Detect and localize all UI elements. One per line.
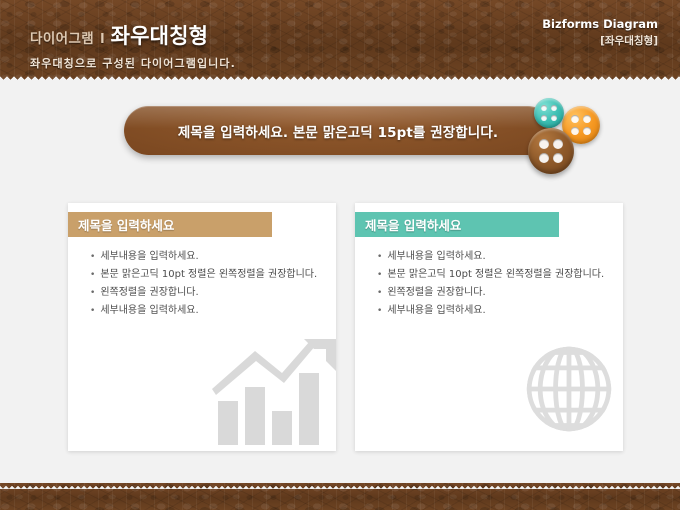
button-hole (551, 115, 557, 121)
button-hole (571, 115, 579, 123)
list-item: • 왼쪽정렬을 권장합니다. (377, 285, 609, 301)
list-item-label: 세부내용을 입력하세요. (100, 303, 198, 319)
button-hole (583, 127, 591, 135)
list-item: • 세부내용을 입력하세요. (90, 303, 322, 319)
content-card-right[interactable]: 제목을 입력하세요 • 세부내용을 입력하세요. • 본문 맑은고딕 10pt … (355, 203, 623, 451)
button-hole (571, 127, 579, 135)
button-hole (553, 153, 563, 163)
title-line: 다이어그램 l 좌우대칭형 (30, 20, 236, 50)
button-brown-icon (528, 128, 574, 174)
bullet-marker-icon: • (377, 285, 382, 301)
bullet-list-right: • 세부내용을 입력하세요. • 본문 맑은고딕 10pt 정렬은 왼쪽정렬을 … (377, 249, 609, 321)
list-item: • 본문 맑은고딕 10pt 정렬은 왼쪽정렬을 권장합니다. (377, 267, 609, 283)
bullet-marker-icon: • (377, 303, 382, 319)
slide-canvas: 다이어그램 l 좌우대칭형 좌우대칭으로 구성된 다이어그램입니다. Bizfo… (0, 0, 680, 510)
card-heading-left: 제목을 입력하세요 (78, 215, 174, 234)
button-hole (541, 115, 547, 121)
title-prefix: 다이어그램 (30, 27, 94, 47)
button-hole (551, 105, 557, 111)
list-item: • 세부내용을 입력하세요. (377, 303, 609, 319)
list-item-label: 왼쪽정렬을 권장합니다. (387, 285, 485, 301)
list-item: • 왼쪽정렬을 권장합니다. (90, 285, 322, 301)
list-item-label: 본문 맑은고딕 10pt 정렬은 왼쪽정렬을 권장합니다. (100, 267, 317, 283)
list-item-label: 세부내용을 입력하세요. (100, 249, 198, 265)
bullet-marker-icon: • (90, 285, 95, 301)
list-item-label: 본문 맑은고딕 10pt 정렬은 왼쪽정렬을 권장합니다. (387, 267, 604, 283)
bullet-marker-icon: • (377, 267, 382, 283)
bullet-list-left: • 세부내용을 입력하세요. • 본문 맑은고딕 10pt 정렬은 왼쪽정렬을 … (90, 249, 322, 321)
header-zigzag-divider (0, 73, 680, 80)
bullet-marker-icon: • (90, 303, 95, 319)
brand-title: Bizforms Diagram (542, 17, 658, 31)
title-banner[interactable]: 제목을 입력하세요. 본문 맑은고딕 15pt를 권장합니다. (124, 106, 552, 155)
list-item-label: 세부내용을 입력하세요. (387, 249, 485, 265)
footer-band (0, 483, 680, 510)
card-heading-right: 제목을 입력하세요 (365, 215, 461, 234)
list-item-label: 세부내용을 입력하세요. (387, 303, 485, 319)
button-hole (583, 115, 591, 123)
list-item: • 세부내용을 입력하세요. (90, 249, 322, 265)
bar-chart-growth-icon (212, 339, 336, 449)
page-title: 다이어그램 l 좌우대칭형 좌우대칭으로 구성된 다이어그램입니다. (30, 20, 236, 71)
bullet-marker-icon: • (377, 249, 382, 265)
brand-block: Bizforms Diagram [좌우대칭형] (542, 17, 658, 48)
button-hole (539, 139, 549, 149)
banner-text: 제목을 입력하세요. 본문 맑은고딕 15pt를 권장합니다. (154, 121, 522, 141)
bullet-marker-icon: • (90, 249, 95, 265)
page-subtitle: 좌우대칭으로 구성된 다이어그램입니다. (30, 55, 236, 71)
button-hole (541, 105, 547, 111)
list-item: • 본문 맑은고딕 10pt 정렬은 왼쪽정렬을 권장합니다. (90, 267, 322, 283)
list-item: • 세부내용을 입력하세요. (377, 249, 609, 265)
card-heading-ribbon-left: 제목을 입력하세요 (68, 212, 272, 237)
content-card-left[interactable]: 제목을 입력하세요 • 세부내용을 입력하세요. • 본문 맑은고딕 10pt … (68, 203, 336, 451)
list-item-label: 왼쪽정렬을 권장합니다. (100, 285, 198, 301)
title-main: 좌우대칭형 (111, 20, 209, 50)
button-hole (553, 139, 563, 149)
brand-subtitle: [좌우대칭형] (542, 33, 658, 48)
card-heading-ribbon-right: 제목을 입력하세요 (355, 212, 559, 237)
globe-grid-icon (521, 341, 617, 437)
header-band: 다이어그램 l 좌우대칭형 좌우대칭으로 구성된 다이어그램입니다. Bizfo… (0, 0, 680, 80)
footer-zigzag-divider (0, 483, 680, 489)
header-inner: 다이어그램 l 좌우대칭형 좌우대칭으로 구성된 다이어그램입니다. Bizfo… (0, 0, 680, 80)
bullet-marker-icon: • (90, 267, 95, 283)
button-hole (539, 153, 549, 163)
button-teal-icon (534, 98, 564, 128)
title-separator: l (100, 32, 104, 47)
